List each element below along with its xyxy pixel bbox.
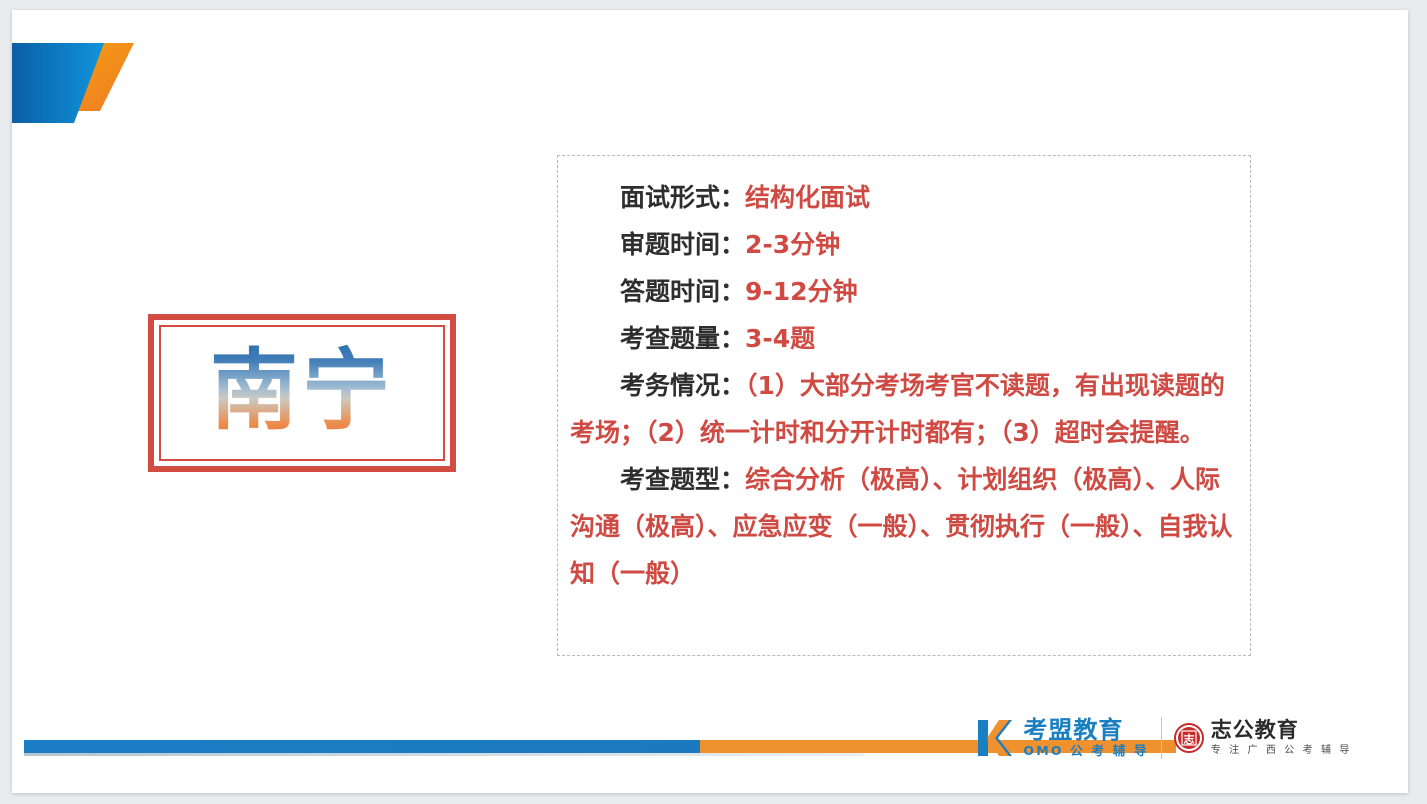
rule-segment-blue bbox=[24, 740, 700, 753]
logo-divider bbox=[1161, 717, 1162, 759]
info-label: 考务情况： bbox=[620, 371, 745, 400]
info-value: 2-3分钟 bbox=[745, 230, 840, 259]
blue-orange-ribbon-icon bbox=[12, 43, 142, 123]
info-label: 面试形式： bbox=[620, 183, 745, 212]
rule-shadow bbox=[24, 753, 864, 756]
info-label: 答题时间： bbox=[620, 277, 745, 306]
svg-text:志: 志 bbox=[1183, 732, 1194, 746]
interview-info-box: 面试形式：结构化面试 审题时间：2-3分钟 答题时间：9-12分钟 考查题量：3… bbox=[557, 155, 1251, 656]
info-value: 结构化面试 bbox=[745, 183, 870, 212]
info-row-interview-format: 面试形式：结构化面试 bbox=[570, 174, 1242, 221]
info-row-question-types: 考查题型：综合分析（极高）、计划组织（极高）、人际沟通（极高）、应急应变（一般）… bbox=[570, 456, 1242, 597]
city-name: 南宁 bbox=[210, 341, 394, 445]
kaomeng-text: 考盟教育 OMO 公 考 辅 导 bbox=[1023, 717, 1148, 759]
city-badge: 南宁 bbox=[148, 314, 456, 472]
info-row-reading-time: 审题时间：2-3分钟 bbox=[570, 221, 1242, 268]
city-badge-inner-frame: 南宁 bbox=[159, 325, 445, 461]
k-arrow-logo-icon bbox=[975, 716, 1019, 760]
info-label: 考查题量： bbox=[620, 324, 745, 353]
info-row-answer-time: 答题时间：9-12分钟 bbox=[570, 268, 1242, 315]
info-row-question-count: 考查题量：3-4题 bbox=[570, 315, 1242, 362]
info-value: 3-4题 bbox=[745, 324, 815, 353]
info-label: 审题时间： bbox=[620, 230, 745, 259]
kaomeng-subtitle: OMO 公 考 辅 导 bbox=[1023, 743, 1148, 759]
info-row-exam-logistics: 考务情况：（1）大部分考场考官不读题，有出现读题的考场；（2）统一计时和分开计时… bbox=[570, 362, 1242, 456]
zhigong-logo: 志 志公教育 专 注 广 西 公 考 辅 导 bbox=[1174, 715, 1352, 761]
zhi-seal-icon: 志 bbox=[1174, 723, 1204, 753]
slide-canvas: 南宁 面试形式：结构化面试 审题时间：2-3分钟 答题时间：9-12分钟 考查题… bbox=[12, 10, 1408, 793]
info-value: 9-12分钟 bbox=[745, 277, 858, 306]
info-label: 考查题型： bbox=[620, 465, 745, 494]
zhigong-title: 志公教育 bbox=[1211, 718, 1352, 742]
zhigong-text: 志公教育 专 注 广 西 公 考 辅 导 bbox=[1211, 718, 1352, 758]
kaomeng-logo: 考盟教育 OMO 公 考 辅 导 bbox=[975, 715, 1148, 761]
zhigong-subtitle: 专 注 广 西 公 考 辅 导 bbox=[1211, 744, 1352, 758]
footer-logos: 考盟教育 OMO 公 考 辅 导 志 志公教育 专 注 广 西 公 考 辅 导 bbox=[975, 713, 1352, 763]
kaomeng-title: 考盟教育 bbox=[1023, 717, 1148, 743]
